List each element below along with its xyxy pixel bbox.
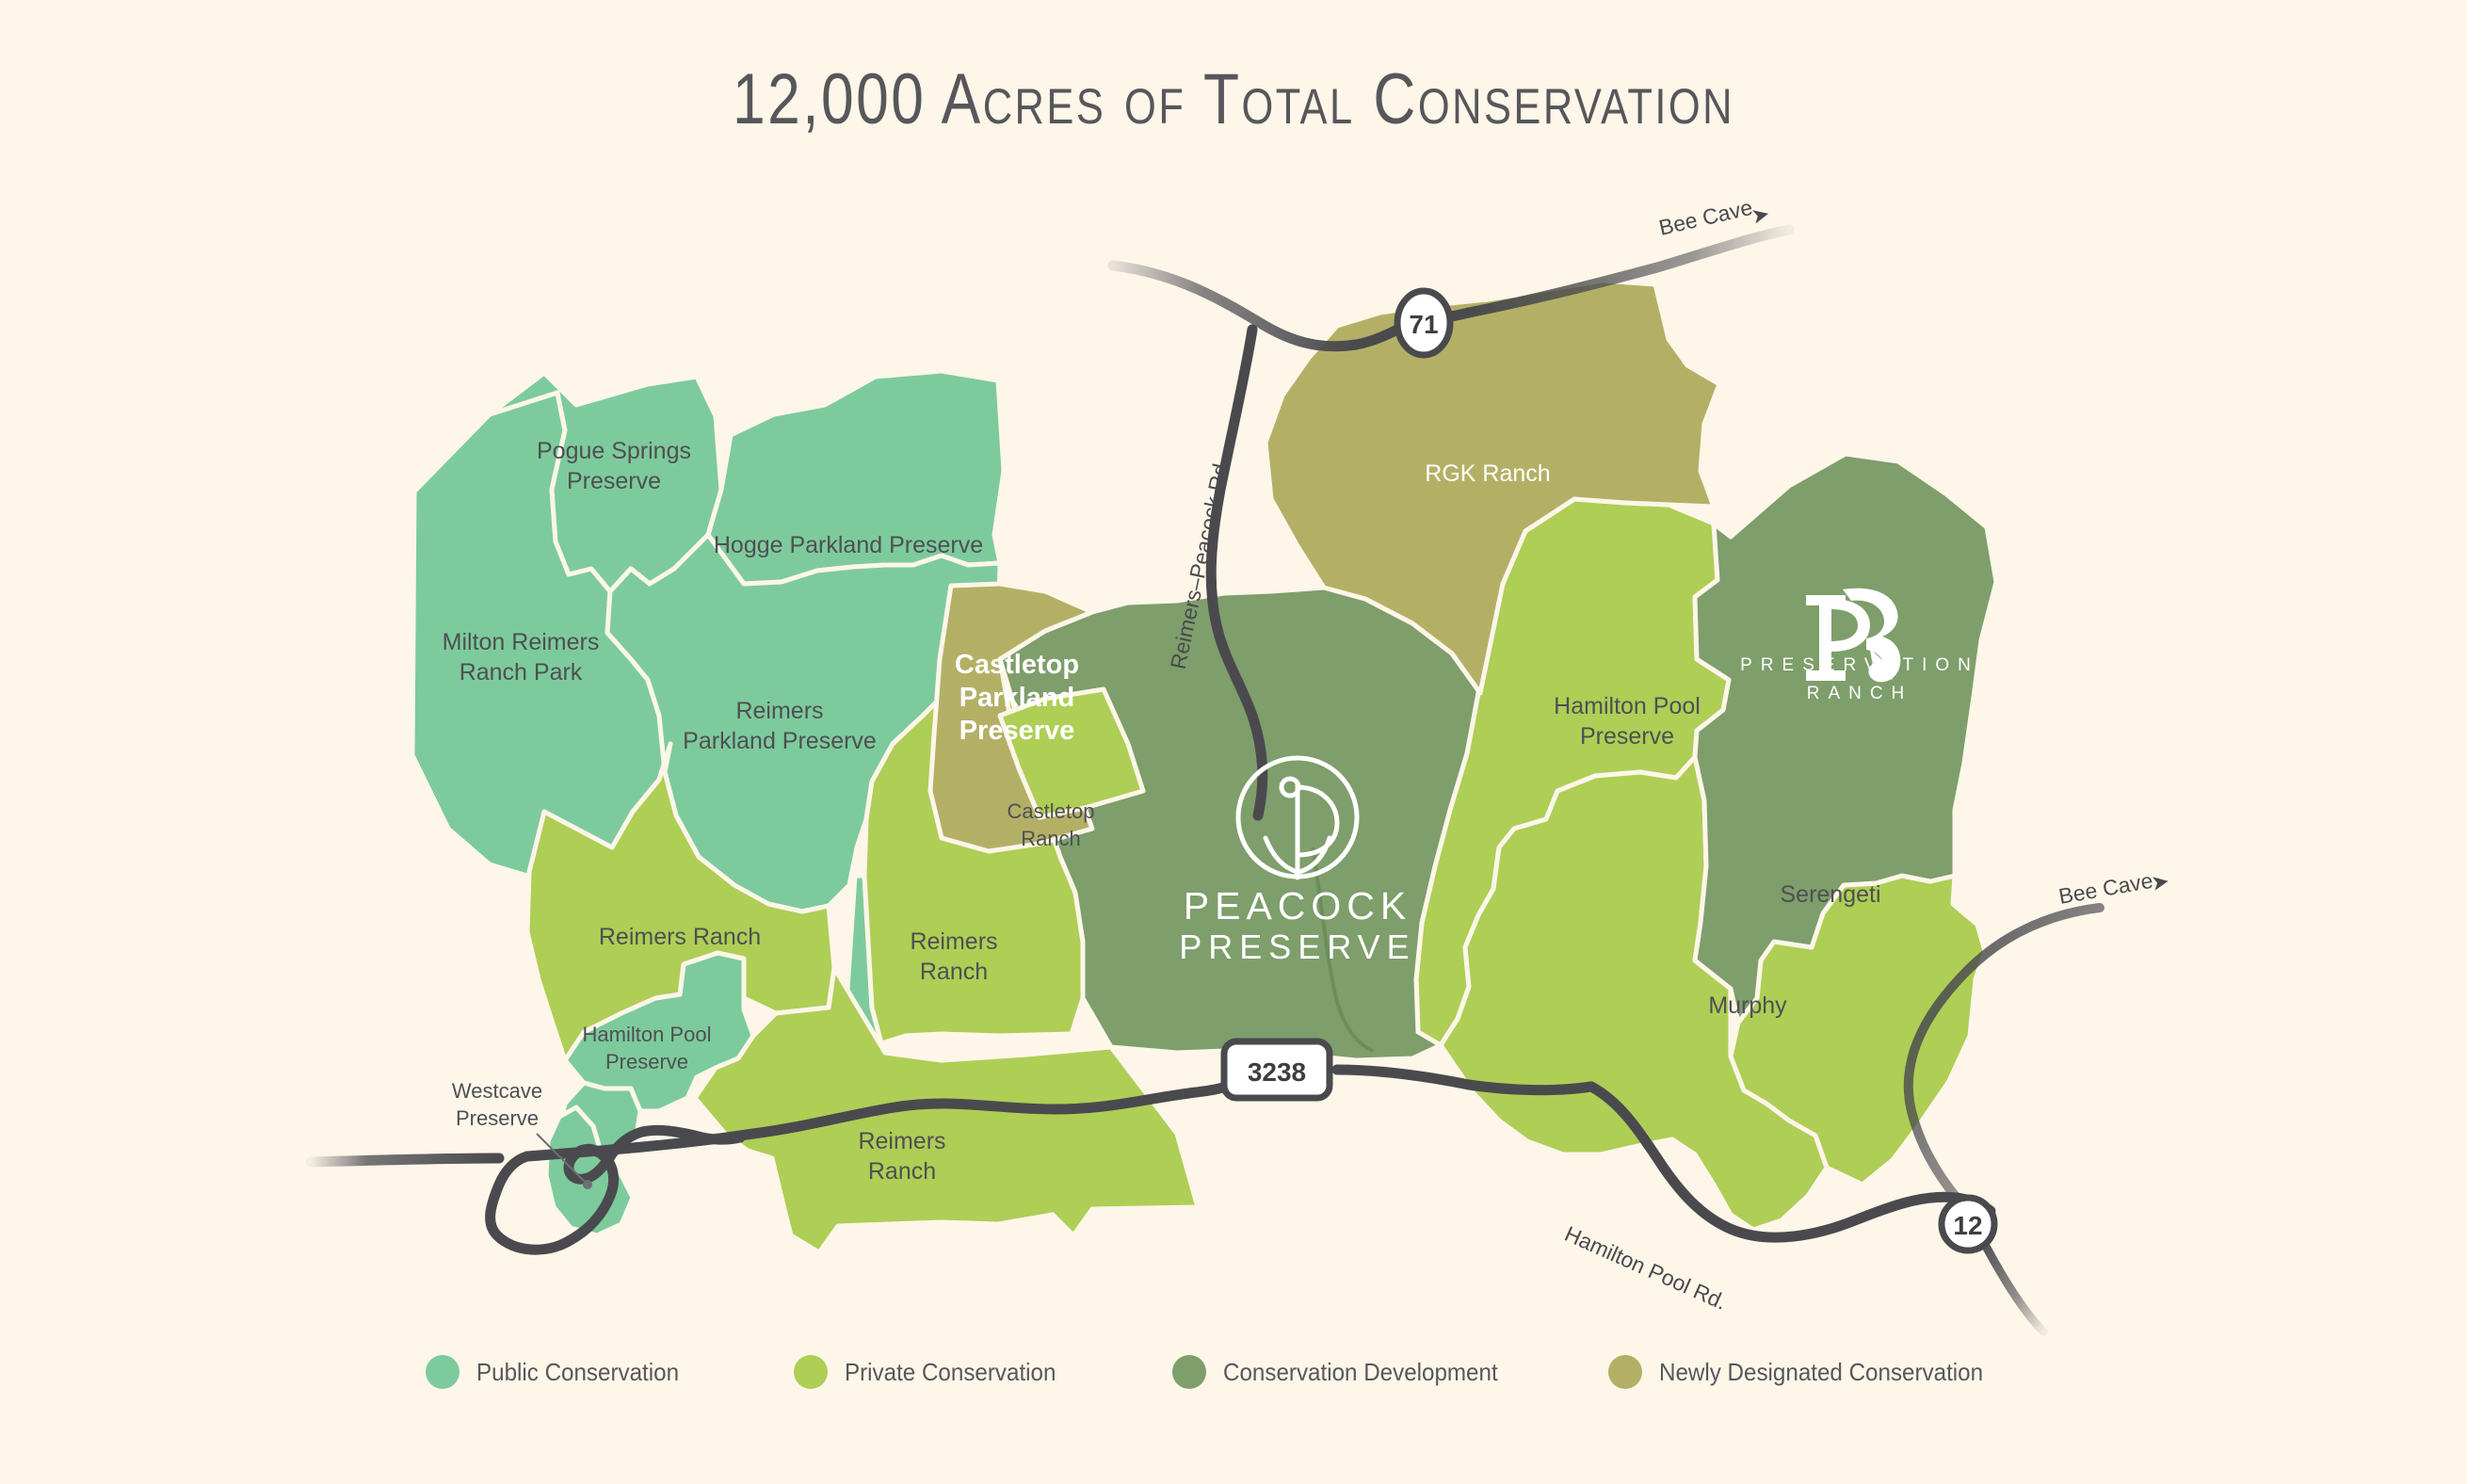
svg-text:Ranch: Ranch [920, 959, 988, 985]
road-shield-71-label: 71 [1409, 310, 1438, 339]
road-shield-hwy-71[interactable]: 71 [1397, 291, 1450, 355]
road-west-fade [311, 1158, 499, 1162]
svg-text:Pogue Springs: Pogue Springs [537, 438, 691, 464]
label-castletop-parkland-preserve: Castletop Parkland Preserve [955, 650, 1079, 746]
road-shield-fm-3238[interactable]: 3238 [1224, 1041, 1330, 1098]
peacock-brand-sub: PRESERVE [1179, 927, 1415, 966]
svg-text:Westcave: Westcave [452, 1079, 542, 1103]
legend-item-public-conservation[interactable]: Public Conservation [426, 1355, 694, 1389]
svg-text:Preserve: Preserve [605, 1050, 688, 1073]
svg-text:Hogge Parkland Preserve: Hogge Parkland Preserve [714, 532, 983, 558]
legend-label-public-conservation: Public Conservation [476, 1358, 679, 1387]
label-murphy: Murphy [1708, 992, 1787, 1019]
svg-text:Preserve: Preserve [567, 468, 661, 494]
svg-text:RGK Ranch: RGK Ranch [1425, 460, 1550, 487]
svg-text:Ranch: Ranch [868, 1158, 936, 1185]
bee-cave-north-arrow-icon: ➤ [1749, 201, 1772, 229]
svg-text:Castletop: Castletop [1008, 799, 1095, 823]
svg-text:Castletop: Castletop [955, 650, 1079, 680]
label-rgk-ranch: RGK Ranch [1425, 460, 1550, 487]
legend-label-conservation-development: Conservation Development [1223, 1358, 1498, 1387]
legend-swatch-newly-designated-conservation [1608, 1355, 1642, 1389]
legend-item-private-conservation[interactable]: Private Conservation [794, 1355, 1072, 1389]
map-legend: Public Conservation Private Conservation… [426, 1339, 2045, 1405]
svg-text:Milton Reimers: Milton Reimers [443, 629, 600, 655]
svg-text:Parkland Preserve: Parkland Preserve [683, 728, 877, 754]
road-hwy71-west [1113, 266, 1356, 347]
road-hwy12-south [1981, 1237, 2043, 1331]
road-shield-hwy-12[interactable]: 12 [1942, 1198, 1994, 1250]
svg-text:Parkland: Parkland [959, 683, 1075, 713]
legend-item-conservation-development[interactable]: Conservation Development [1172, 1355, 1519, 1389]
svg-text:Preserve: Preserve [959, 716, 1075, 746]
svg-text:Hamilton Pool: Hamilton Pool [1554, 693, 1701, 719]
preservation-ranch-sub: RANCH [1807, 684, 1913, 703]
legend-swatch-public-conservation [426, 1355, 460, 1389]
label-hogge-parkland-preserve: Hogge Parkland Preserve [714, 532, 983, 558]
destination-bee-cave-east: Bee Cave ➤ [2056, 868, 2171, 909]
svg-text:Ranch Park: Ranch Park [460, 659, 583, 686]
svg-text:Serengeti: Serengeti [1780, 881, 1880, 908]
road-label-hamilton-pool-rd: Hamilton Pool Rd. [1561, 1221, 1731, 1315]
svg-text:Reimers: Reimers [910, 928, 997, 955]
road-shield-12-label: 12 [1953, 1211, 1982, 1240]
label-reimers-ranch-west: Reimers Ranch [599, 924, 761, 950]
peacock-brand-name: PEACOCK [1184, 884, 1412, 927]
svg-text:Hamilton Pool: Hamilton Pool [583, 1023, 712, 1046]
legend-label-newly-designated-conservation: Newly Designated Conservation [1659, 1358, 1983, 1387]
svg-text:Murphy: Murphy [1708, 992, 1787, 1019]
svg-text:Reimers Ranch: Reimers Ranch [599, 924, 761, 950]
road-shield-3238-label: 3238 [1248, 1057, 1306, 1087]
bee-cave-east-label: Bee Cave [2056, 868, 2154, 909]
label-serengeti: Serengeti [1780, 881, 1880, 908]
preservation-ranch-name-visible: PRESERVATION [1740, 655, 1979, 675]
legend-item-newly-designated-conservation[interactable]: Newly Designated Conservation [1608, 1355, 2007, 1389]
svg-text:Reimers: Reimers [735, 698, 823, 724]
legend-label-private-conservation: Private Conservation [845, 1358, 1056, 1387]
svg-text:Preserve: Preserve [1580, 723, 1674, 750]
bee-cave-north-label: Bee Cave [1656, 195, 1754, 240]
svg-text:Preserve: Preserve [456, 1106, 539, 1130]
road-westcave-loop [491, 1130, 740, 1250]
svg-text:Ranch: Ranch [1021, 827, 1081, 850]
legend-swatch-conservation-development [1172, 1355, 1206, 1389]
bee-cave-east-arrow-icon: ➤ [2149, 868, 2171, 895]
westcave-marker-dot [583, 1180, 592, 1189]
conservation-map: 71 3238 12 Reimers–Peacock Rd. Hamilton … [0, 0, 2467, 1484]
legend-swatch-private-conservation [794, 1355, 828, 1389]
conservation-map-page: 12,000 Acres of Total Conservation [0, 0, 2467, 1484]
svg-text:Reimers: Reimers [858, 1128, 945, 1154]
